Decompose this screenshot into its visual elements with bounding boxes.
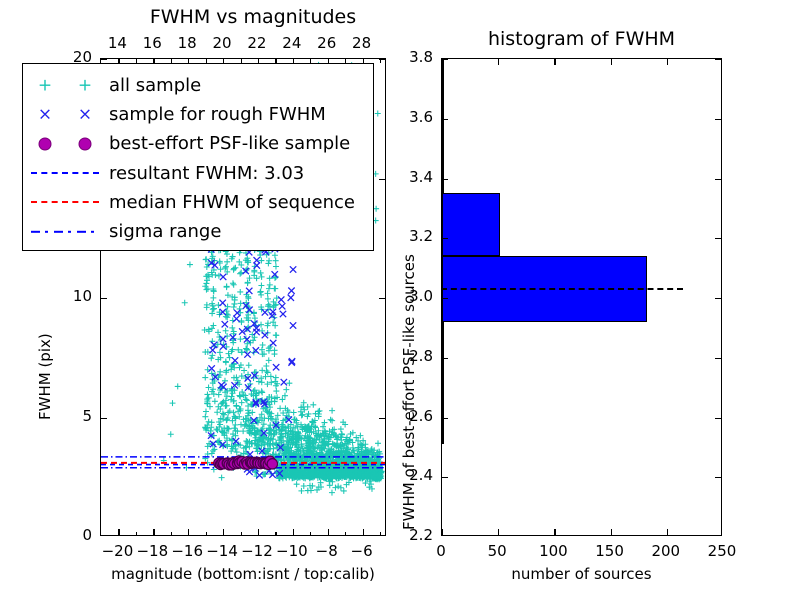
scatter-point-plus — [231, 265, 237, 271]
scatter-point-cross — [219, 300, 225, 306]
scatter-point-cross — [290, 266, 296, 272]
scatter-point-plus — [265, 296, 271, 302]
scatter-point-plus — [223, 328, 229, 334]
left-panel-xlabel: magnitude (bottom:isnt / top:calib) — [100, 565, 386, 583]
scatter-point-plus — [246, 362, 252, 368]
scatter-point-plus — [212, 398, 218, 404]
scatter-point-plus — [265, 290, 271, 296]
scatter-point-plus — [168, 431, 174, 437]
scatter-point-cross — [279, 303, 285, 309]
histogram-bar — [442, 122, 444, 194]
scatter-point-cross — [270, 340, 276, 346]
left-axis-xtick — [258, 529, 259, 535]
left-axis-xtick-top — [345, 59, 346, 63]
scatter-point-cross — [222, 321, 228, 327]
left-axis-ytick — [101, 418, 107, 419]
scatter-point-plus — [272, 252, 278, 258]
scatter-point-plus — [240, 428, 246, 434]
scatter-point-cross — [288, 288, 294, 294]
right-axis-ytick — [442, 179, 448, 180]
right-axis-ytick — [442, 119, 448, 120]
scatter-point-plus — [182, 300, 188, 306]
scatter-point-plus — [338, 437, 344, 443]
right-axis-xtick-top — [611, 59, 612, 65]
scatter-point-plus — [231, 301, 237, 307]
scatter-point-plus — [237, 289, 243, 295]
scatter-point-plus — [202, 375, 208, 381]
scatter-point-cross — [233, 316, 239, 322]
scatter-point-plus — [259, 367, 265, 373]
scatter-point-plus — [274, 295, 280, 301]
right-y-tick-label: 3.2 — [383, 227, 433, 245]
right-y-tick-label: 3.4 — [383, 168, 433, 186]
scatter-point-plus — [317, 408, 323, 414]
scatter-point-plus — [251, 269, 257, 275]
scatter-point-plus — [234, 403, 240, 409]
right-x-tick-label: 250 — [700, 542, 744, 560]
scatter-point-plus — [328, 417, 334, 423]
left-axis-xtick-top — [171, 59, 172, 63]
legend-circle-icon — [39, 137, 52, 150]
left-top-tick-label: 24 — [274, 34, 310, 52]
right-axis-ytick-right — [715, 418, 721, 419]
scatter-point-plus — [271, 286, 277, 292]
left-top-tick-label: 14 — [99, 34, 135, 52]
scatter-point-plus — [268, 373, 274, 379]
legend-label: sigma range — [109, 221, 221, 242]
scatter-point-plus — [339, 431, 345, 437]
left-axis-xtick — [241, 532, 242, 536]
scatter-point-plus — [219, 475, 225, 481]
scatter-point-plus — [277, 405, 283, 411]
legend-marker-plus-icon: ++ — [23, 71, 109, 100]
scatter-point-plus — [202, 414, 208, 420]
scatter-point-plus — [332, 485, 338, 491]
scatter-point-plus — [329, 418, 335, 424]
right-axis-ytick — [442, 298, 448, 299]
scatter-point-plus — [267, 282, 273, 288]
scatter-point-cross — [256, 472, 262, 478]
scatter-point-plus — [224, 443, 230, 449]
scatter-point-plus — [204, 391, 210, 397]
right-x-tick-label: 150 — [588, 542, 632, 560]
scatter-point-cross — [273, 364, 279, 370]
right-axis-ytick — [442, 59, 448, 60]
scatter-point-plus — [259, 390, 265, 396]
scatter-point-cross — [220, 274, 226, 280]
scatter-point-plus — [327, 482, 333, 488]
legend-line-icon — [31, 201, 99, 203]
scatter-point-plus — [238, 422, 244, 428]
legend-line-icon — [31, 172, 99, 174]
left-axis-ytick — [101, 298, 107, 299]
legend-circle-icon — [79, 137, 92, 150]
legend-cross-icon: × — [38, 106, 52, 123]
scatter-point-plus — [273, 263, 279, 269]
scatter-point-plus — [243, 345, 249, 351]
scatter-point-plus — [232, 422, 238, 428]
scatter-point-plus — [305, 404, 311, 410]
right-x-tick-label: 50 — [475, 542, 519, 560]
scatter-point-plus — [209, 325, 215, 331]
right-x-tick-label: 200 — [644, 542, 688, 560]
legend-plus-icon: + — [78, 77, 92, 94]
right-axis-xtick — [611, 529, 612, 535]
scatter-point-plus — [273, 375, 279, 381]
scatter-point-plus — [175, 383, 181, 389]
scatter-point-plus — [283, 387, 289, 393]
right-axis-xtick-top — [498, 59, 499, 65]
scatter-point-circle — [267, 459, 277, 469]
scatter-point-plus — [259, 379, 265, 385]
right-axis-ytick — [442, 238, 448, 239]
scatter-point-plus — [203, 280, 209, 286]
scatter-point-plus — [241, 368, 247, 374]
histogram-bar — [442, 385, 444, 445]
right-axis-xtick — [667, 529, 668, 535]
scatter-point-plus — [252, 263, 258, 269]
left-axis-xtick — [136, 532, 137, 536]
left-axis-ytick — [101, 59, 107, 60]
scatter-point-plus — [294, 481, 300, 487]
legend-cross-icon: × — [78, 106, 92, 123]
left-panel-title: FWHM vs magnitudes — [118, 6, 388, 28]
scatter-point-plus — [203, 408, 209, 414]
scatter-point-plus — [266, 357, 272, 363]
left-axis-xtick — [363, 529, 364, 535]
scatter-point-plus — [205, 443, 211, 449]
left-axis-xtick — [223, 529, 224, 535]
scatter-point-plus — [218, 266, 224, 272]
scatter-point-plus — [338, 426, 344, 432]
right-axis-ytick-right — [715, 477, 721, 478]
scatter-point-plus — [375, 110, 381, 116]
scatter-point-plus — [205, 286, 211, 292]
histogram-bar — [442, 322, 444, 385]
scatter-point-plus — [223, 264, 229, 270]
legend-plus-icon: + — [38, 77, 52, 94]
plot-legend[interactable]: ++all sample××sample for rough FWHMbest-… — [22, 63, 374, 251]
right-x-tick-label: 100 — [531, 542, 575, 560]
legend-label: all sample — [109, 75, 201, 96]
left-top-tick-label: 16 — [134, 34, 170, 52]
scatter-point-plus — [291, 409, 297, 415]
scatter-point-plus — [237, 336, 243, 342]
legend-item-4[interactable]: resultant FWHM: 3.03 — [23, 159, 373, 188]
scatter-point-plus — [267, 422, 273, 428]
left-axis-xtick — [188, 529, 189, 535]
scatter-point-plus — [208, 355, 214, 361]
matplotlib-figure: FWHM vs magnitudes 1416182022242628 −20−… — [0, 0, 800, 600]
scatter-point-plus — [329, 408, 335, 414]
scatter-point-plus — [214, 409, 220, 415]
left-axis-xtick — [380, 532, 381, 536]
legend-marker-dashdot-line-icon — [23, 217, 109, 246]
left-y-tick-label: 0 — [44, 526, 92, 544]
scatter-point-plus — [239, 400, 245, 406]
legend-marker-dashed-line-icon — [23, 159, 109, 188]
left-axis-xtick-top — [310, 59, 311, 63]
left-axis-xtick — [118, 529, 119, 535]
scatter-point-plus — [258, 322, 264, 328]
scatter-point-plus — [202, 327, 208, 333]
scatter-point-plus — [202, 283, 208, 289]
right-y-tick-label: 3.8 — [383, 48, 433, 66]
left-axis-xtick — [345, 532, 346, 536]
histogram-bar — [442, 59, 444, 122]
scatter-point-cross — [209, 347, 215, 353]
left-top-tick-label: 28 — [344, 34, 380, 52]
left-panel-ylabel: FWHM (pix) — [36, 333, 54, 420]
scatter-point-cross — [278, 296, 284, 302]
legend-item-6[interactable]: sigma range — [23, 217, 373, 246]
scatter-point-plus — [341, 488, 347, 494]
right-panel-title: histogram of FWHM — [441, 28, 722, 50]
left-axis-xtick — [310, 532, 311, 536]
scatter-point-plus — [210, 322, 216, 328]
legend-marker-dashed-line-icon — [23, 188, 109, 217]
scatter-point-plus — [321, 420, 327, 426]
left-top-tick-label: 20 — [204, 34, 240, 52]
right-axis-ytick-right — [715, 59, 721, 60]
legend-label: best-effort PSF-like sample — [109, 133, 350, 154]
left-axis-xtick-top — [206, 59, 207, 63]
left-axis-xtick — [293, 529, 294, 535]
scatter-point-plus — [263, 363, 269, 369]
right-axis-xtick-top — [554, 59, 555, 65]
right-axis-ytick-right — [715, 358, 721, 359]
scatter-point-cross — [290, 322, 296, 328]
scatter-point-plus — [266, 286, 272, 292]
right-axis-ytick-right — [715, 238, 721, 239]
scatter-point-plus — [260, 342, 266, 348]
scatter-point-plus — [187, 262, 193, 268]
left-axis-xtick-top — [275, 59, 276, 63]
legend-item-5[interactable]: median FHWM of sequence — [23, 188, 373, 217]
scatter-point-cross — [281, 379, 287, 385]
left-axis-xtick-top — [136, 59, 137, 63]
left-axis-xtick — [206, 532, 207, 536]
left-bottom-tick-label: −6 — [340, 542, 384, 560]
scatter-point-plus — [335, 483, 341, 489]
left-top-tick-label: 26 — [309, 34, 345, 52]
left-y-tick-label: 10 — [44, 287, 92, 305]
scatter-point-plus — [203, 287, 209, 293]
scatter-point-plus — [217, 349, 223, 355]
scatter-point-plus — [231, 282, 237, 288]
scatter-point-plus — [375, 440, 381, 446]
scatter-point-plus — [231, 304, 237, 310]
scatter-point-plus — [229, 325, 235, 331]
scatter-point-plus — [224, 259, 230, 265]
scatter-point-plus — [224, 284, 230, 290]
scatter-point-plus — [224, 403, 230, 409]
right-axis-xtick-top — [667, 59, 668, 65]
legend-marker-cross-icon: ×× — [23, 100, 109, 129]
scatter-point-plus — [216, 273, 222, 279]
histogram-axes[interactable] — [441, 58, 722, 536]
histogram-resultant-fwhm-line — [441, 288, 683, 290]
scatter-point-cross — [232, 357, 238, 363]
scatter-point-plus — [218, 337, 224, 343]
scatter-point-plus — [338, 485, 344, 491]
scatter-point-cross — [280, 311, 286, 317]
left-top-tick-label: 18 — [169, 34, 205, 52]
right-axis-ytick-right — [715, 179, 721, 180]
scatter-point-plus — [266, 258, 272, 264]
right-axis-ytick — [442, 477, 448, 478]
scatter-point-plus — [267, 275, 273, 281]
scatter-point-plus — [259, 274, 265, 280]
legend-item-2[interactable]: ××sample for rough FWHM — [23, 100, 373, 129]
left-axis-xtick-top — [241, 59, 242, 63]
right-panel-xlabel: number of sources — [441, 565, 722, 583]
left-axis-xtick — [328, 529, 329, 535]
left-axis-xtick — [153, 529, 154, 535]
legend-marker-circle-icon — [23, 129, 109, 158]
scatter-point-plus — [273, 388, 279, 394]
scatter-point-plus — [272, 347, 278, 353]
scatter-point-plus — [273, 258, 279, 264]
scatter-point-plus — [238, 300, 244, 306]
right-axis-xtick — [498, 529, 499, 535]
scatter-point-plus — [210, 295, 216, 301]
right-axis-ytick — [442, 358, 448, 359]
legend-label: resultant FWHM: 3.03 — [109, 163, 304, 184]
legend-line-icon — [31, 230, 99, 232]
scatter-point-plus — [267, 344, 273, 350]
scatter-point-plus — [299, 412, 305, 418]
legend-label: sample for rough FWHM — [109, 104, 326, 125]
right-y-tick-label: 3.6 — [383, 108, 433, 126]
right-axis-ytick-right — [715, 119, 721, 120]
scatter-point-plus — [309, 419, 315, 425]
scatter-point-plus — [265, 260, 271, 266]
left-top-tick-label: 22 — [239, 34, 275, 52]
legend-item-3[interactable]: best-effort PSF-like sample — [23, 129, 373, 158]
scatter-point-plus — [273, 332, 279, 338]
legend-item-1[interactable]: ++all sample — [23, 71, 373, 100]
histogram-bar — [442, 193, 500, 256]
left-axis-xtick — [171, 532, 172, 536]
left-axis-xtick — [275, 532, 276, 536]
scatter-point-plus — [206, 395, 212, 401]
scatter-point-plus — [286, 380, 292, 386]
scatter-point-plus — [223, 359, 229, 365]
scatter-point-plus — [310, 402, 316, 408]
scatter-point-plus — [234, 449, 240, 455]
right-axis-ytick-right — [715, 298, 721, 299]
scatter-point-plus — [329, 490, 335, 496]
right-x-tick-label: 0 — [419, 542, 463, 560]
scatter-point-plus — [206, 419, 212, 425]
right-axis-xtick — [442, 529, 443, 535]
scatter-point-plus — [170, 400, 176, 406]
scatter-point-plus — [258, 282, 264, 288]
right-panel-ylabel: FWHM of best-effort PSF-like sources — [400, 254, 418, 530]
scatter-point-cross — [246, 288, 252, 294]
scatter-point-plus — [258, 270, 264, 276]
right-axis-ytick — [442, 418, 448, 419]
scatter-point-plus — [373, 206, 379, 212]
scatter-point-plus — [230, 280, 236, 286]
scatter-point-plus — [209, 419, 215, 425]
scatter-point-plus — [216, 392, 222, 398]
scatter-point-cross — [262, 309, 268, 315]
right-axis-xtick — [554, 529, 555, 535]
legend-label: median FHWM of sequence — [109, 192, 355, 213]
scatter-point-cross — [288, 294, 294, 300]
scatter-point-plus — [220, 429, 226, 435]
scatter-point-plus — [215, 329, 221, 335]
